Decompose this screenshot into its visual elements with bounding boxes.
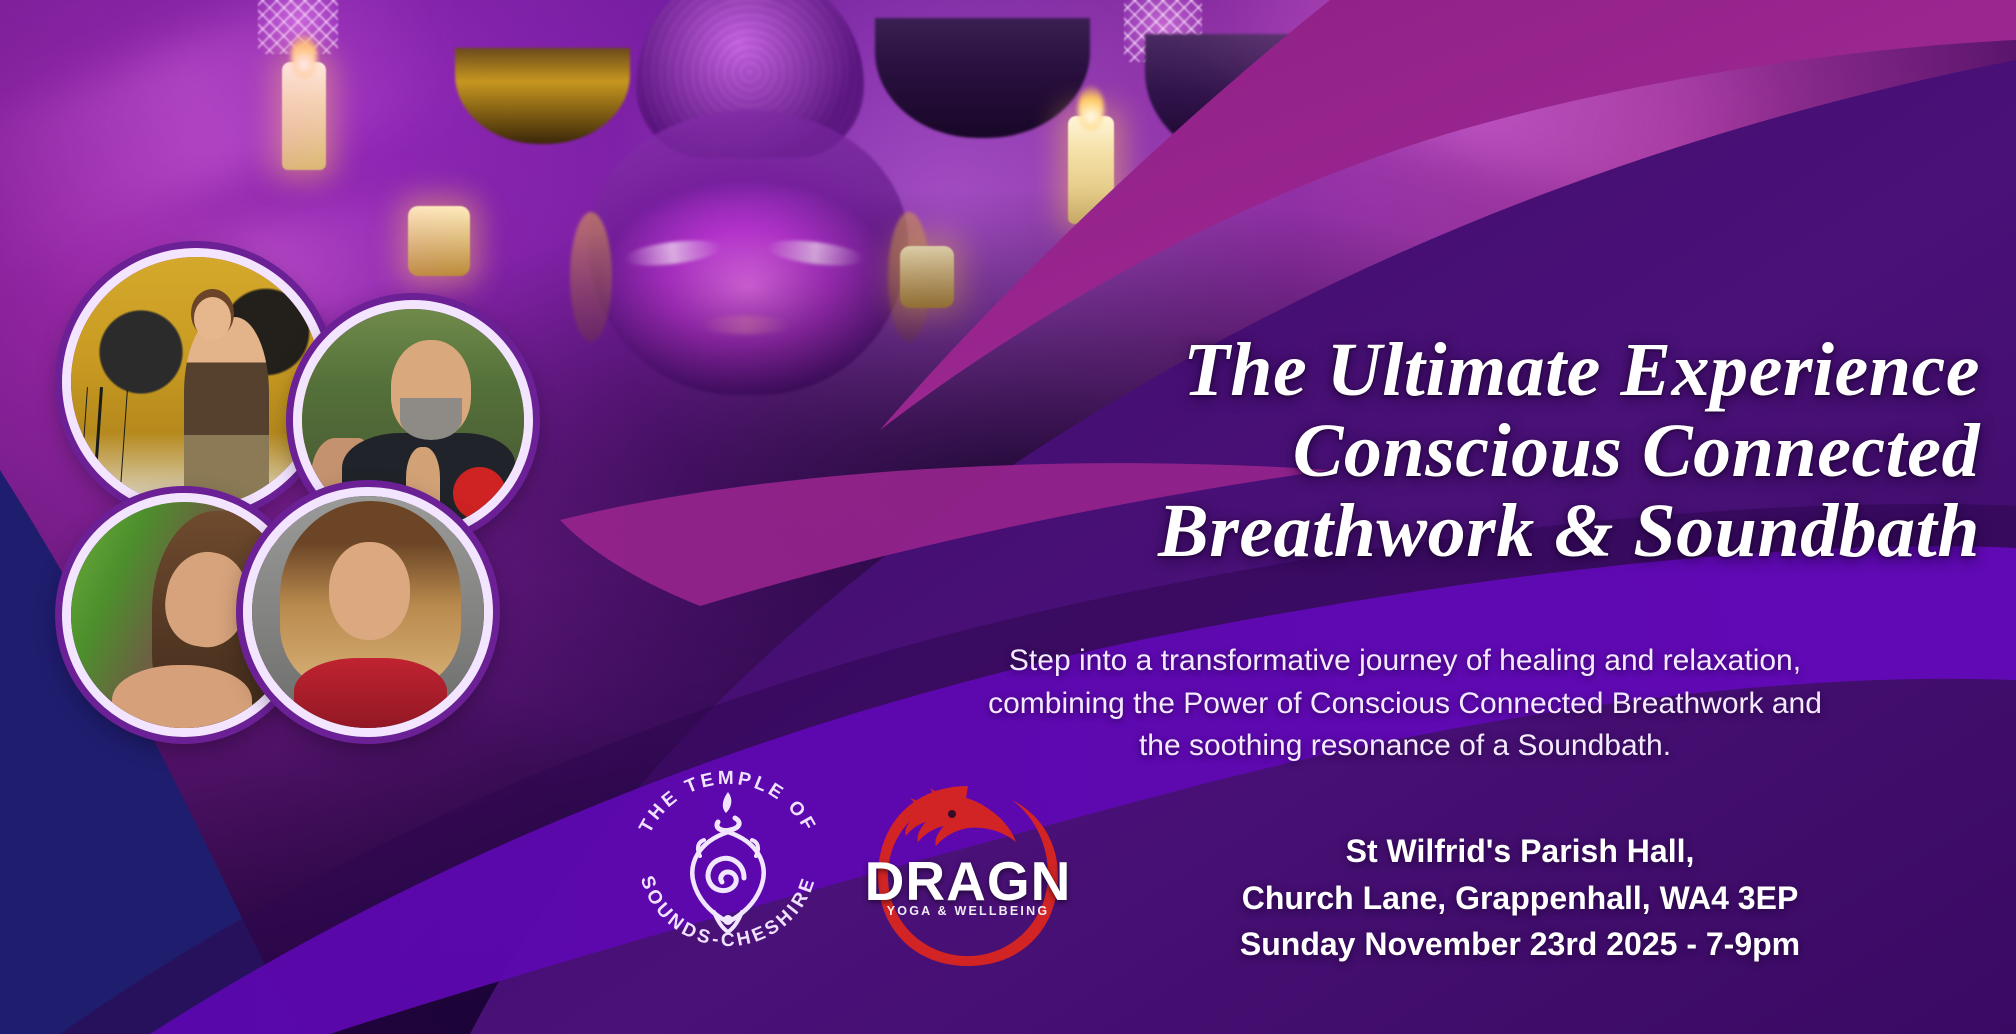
person-beard <box>400 398 462 440</box>
description-line-1: Step into a transformative journey of he… <box>830 640 1980 683</box>
portrait-photo <box>252 496 484 728</box>
temple-logo-bottom-text: SOUNDS-CHESHIRE <box>636 873 820 951</box>
portrait-facilitator-red-top <box>243 487 493 737</box>
person-head <box>194 297 232 340</box>
person-body <box>112 665 252 737</box>
gong-stand <box>92 387 103 502</box>
headline-line-2: Conscious Connected <box>620 411 1980 492</box>
event-description: Step into a transformative journey of he… <box>830 640 1980 768</box>
event-details: St Wilfrid's Parish Hall, Church Lane, G… <box>1060 828 1980 968</box>
dragn-logo: DRAGN YOGA & WELLBEING <box>862 770 1074 982</box>
spiral-flame-emblem <box>692 792 763 932</box>
portrait-sound-healer-with-gongs <box>62 248 330 516</box>
dragn-tagline: YOGA & WELLBEING <box>862 904 1074 918</box>
person-body <box>184 317 269 507</box>
person-head <box>329 542 410 639</box>
headline-line-3: Breathwork & Soundbath <box>620 491 1980 572</box>
dragn-wordmark: DRAGN <box>848 854 1088 909</box>
event-datetime: Sunday November 23rd 2025 - 7-9pm <box>1060 921 1980 968</box>
person-clothing <box>294 658 447 737</box>
page-title: The Ultimate Experience Conscious Connec… <box>620 330 1980 572</box>
temple-of-sounds-logo: THE TEMPLE OF SOUNDS-CHESHIRE <box>622 752 834 964</box>
venue-address: Church Lane, Grappenhall, WA4 3EP <box>1060 875 1980 922</box>
venue-name: St Wilfrid's Parish Hall, <box>1060 828 1980 875</box>
description-line-3: the soothing resonance of a Soundbath. <box>830 725 1980 768</box>
portrait-photo <box>71 257 321 507</box>
description-line-2: combining the Power of Conscious Connect… <box>830 683 1980 726</box>
event-poster: The Ultimate Experience Conscious Connec… <box>0 0 2016 1034</box>
headline-line-1: The Ultimate Experience <box>620 330 1980 411</box>
